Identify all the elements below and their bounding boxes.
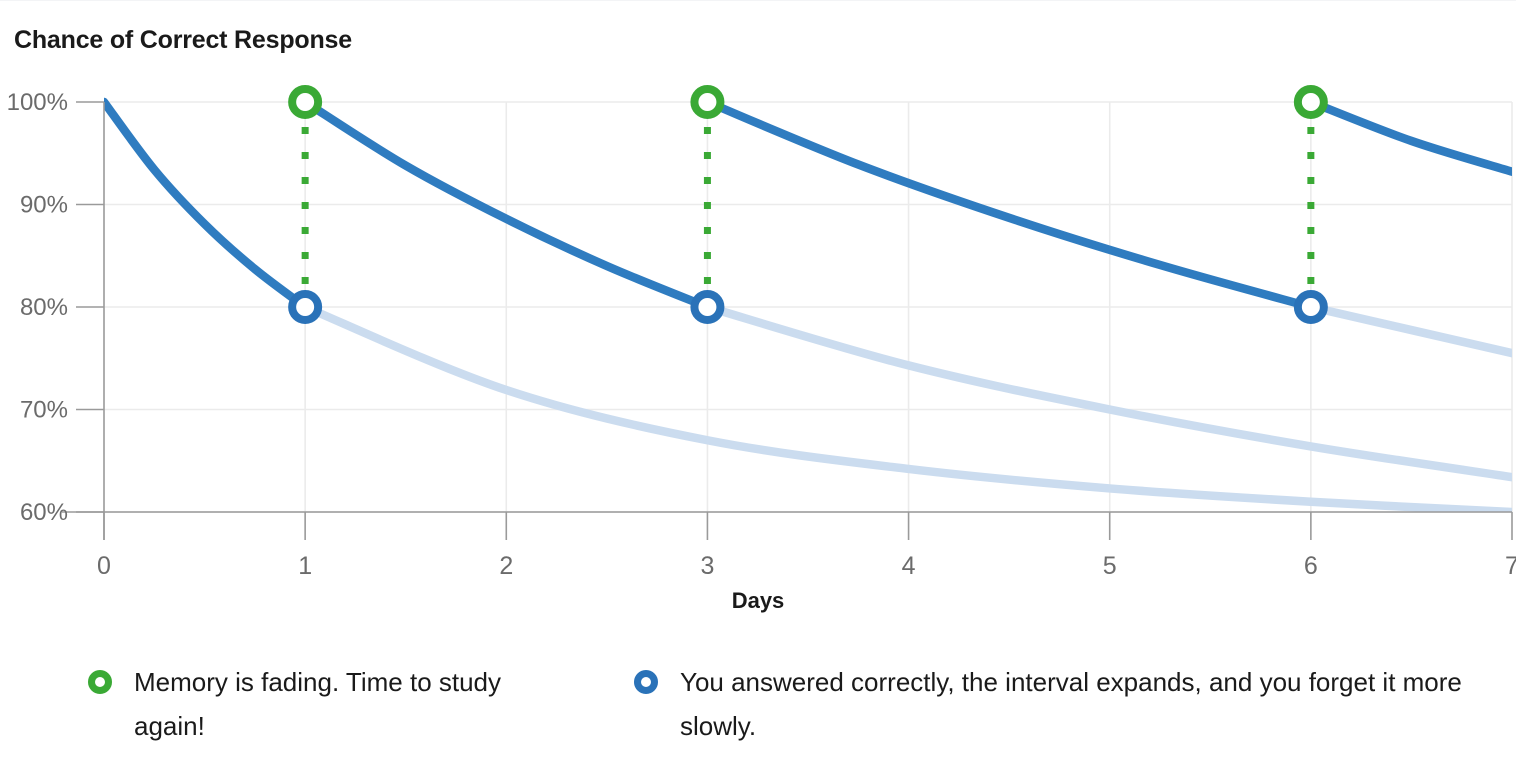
y-tick-label: 100% [7,89,68,116]
x-axis-ticks-group: 01234567 [97,512,1516,580]
review-marker[interactable] [1298,89,1324,115]
y-tick-label: 60% [20,499,68,526]
x-tick-label: 4 [902,552,916,580]
x-tick-label: 1 [298,552,312,580]
x-axis-title: Days [0,588,1516,614]
legend-item-success[interactable]: You answered correctly, the interval exp… [634,660,1474,748]
y-tick-label: 80% [20,294,68,321]
forgetting-curve-chart: 100%90%80%70%60% 01234567 [0,0,1516,765]
success-marker[interactable] [292,294,318,320]
review-marker[interactable] [694,89,720,115]
y-axis-ticks-group: 100%90%80%70%60% [7,89,104,526]
success-marker[interactable] [1298,294,1324,320]
legend-item-review[interactable]: Memory is fading. Time to study again! [88,660,634,748]
x-tick-label: 7 [1505,552,1516,580]
success-marker[interactable] [694,294,720,320]
chart-plot-area: 100%90%80%70%60% 01234567 [0,0,1516,765]
y-tick-label: 90% [20,192,68,219]
x-tick-label: 3 [700,552,714,580]
x-tick-label: 2 [499,552,513,580]
x-tick-label: 5 [1103,552,1117,580]
legend-label-success: You answered correctly, the interval exp… [680,660,1474,748]
blue-ring-icon [634,670,658,694]
green-ring-icon [88,670,112,694]
axis-lines-group [62,102,1512,540]
x-tick-label: 6 [1304,552,1318,580]
forgetting-curve-active [1311,102,1512,172]
x-tick-label: 0 [97,552,111,580]
legend-label-review: Memory is fading. Time to study again! [134,660,564,748]
chart-legend: Memory is fading. Time to study again! Y… [88,660,1488,748]
y-tick-label: 70% [20,397,68,424]
forgetting-curve-faded [1311,307,1512,353]
review-marker[interactable] [292,89,318,115]
